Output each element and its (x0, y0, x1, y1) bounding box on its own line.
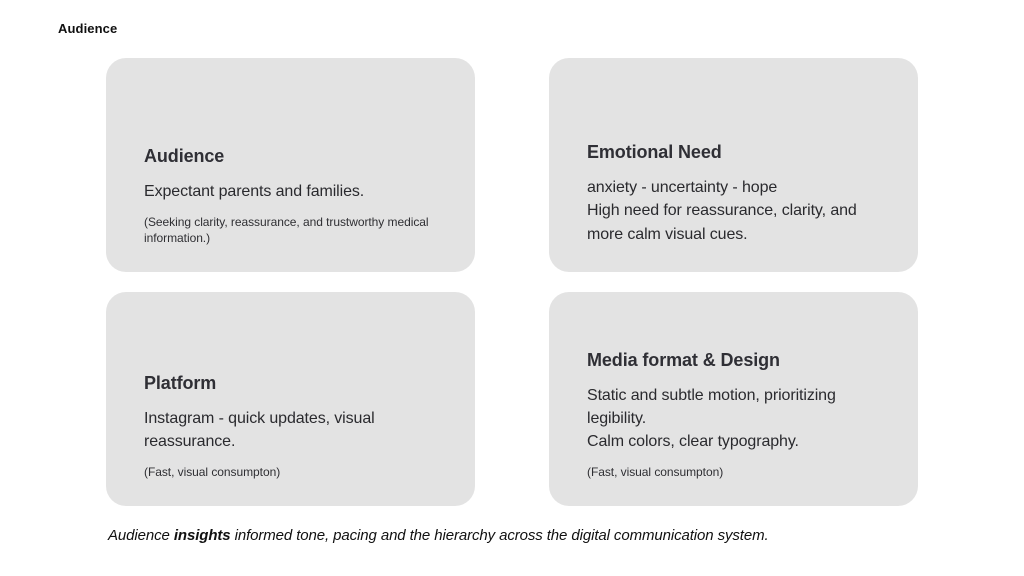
slide-canvas: Audience Audience Expectant parents and … (0, 0, 1024, 576)
footer-caption: Audience insights informed tone, pacing … (108, 527, 769, 544)
card-emotional-need: Emotional Need anxiety - uncertainty - h… (549, 58, 918, 272)
caption-suffix: informed tone, pacing and the hierarchy … (231, 527, 769, 544)
card-body: Instagram - quick updates, visual reassu… (144, 407, 437, 454)
card-media-format-design: Media format & Design Static and subtle … (549, 292, 918, 506)
card-audience: Audience Expectant parents and families.… (106, 58, 475, 272)
card-note: (Fast, visual consumpton) (587, 464, 880, 480)
card-note: (Fast, visual consumpton) (144, 464, 437, 480)
card-body: Expectant parents and families. (144, 180, 437, 203)
card-title: Platform (144, 373, 437, 394)
card-grid: Audience Expectant parents and families.… (106, 58, 918, 506)
card-title: Media format & Design (587, 350, 880, 371)
card-note: (Seeking clarity, reassurance, and trust… (144, 214, 437, 246)
card-body: anxiety - uncertainty - hopeHigh need fo… (587, 176, 880, 246)
card-title: Emotional Need (587, 142, 880, 163)
caption-prefix: Audience (108, 527, 174, 544)
card-title: Audience (144, 146, 437, 167)
caption-emphasis: insights (174, 527, 231, 544)
card-body: Static and subtle motion, prioritizing l… (587, 384, 880, 454)
section-label: Audience (58, 21, 117, 36)
card-platform: Platform Instagram - quick updates, visu… (106, 292, 475, 506)
